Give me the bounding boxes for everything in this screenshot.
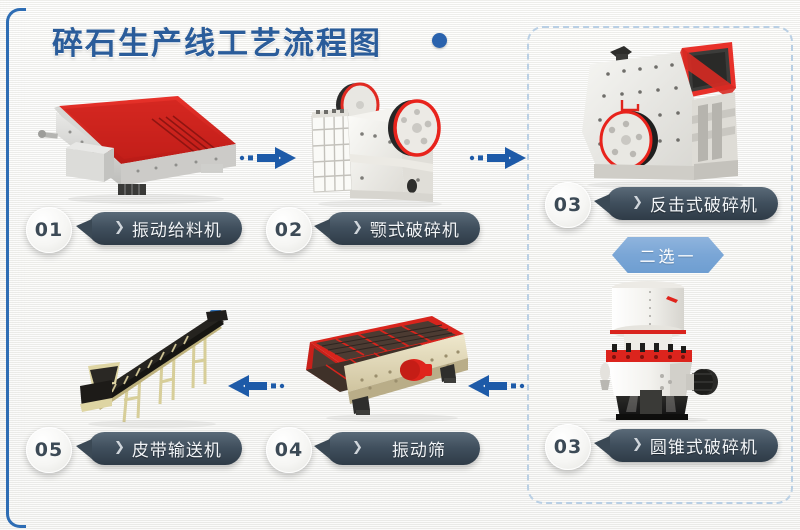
step-label-text: 振动给料机 — [132, 216, 222, 241]
step-label-vibrating-feeder[interactable]: ❯ 振动给料机 — [88, 212, 242, 245]
chevron-right-icon: ❯ — [114, 220, 125, 235]
step-number-03-impact: 03 — [545, 182, 591, 228]
arrow-jaw-to-impact — [468, 145, 528, 171]
page-title: 碎石生产线工艺流程图 — [52, 18, 382, 63]
chevron-right-icon: ❯ — [352, 220, 363, 235]
step-number-02: 02 — [266, 207, 312, 253]
machine-belt-conveyor — [78, 300, 243, 430]
choose-one-badge: 二选一 — [612, 237, 724, 273]
step-label-jaw-crusher[interactable]: ❯ 颚式破碎机 — [326, 212, 480, 245]
step-number-04: 04 — [266, 427, 312, 473]
step-label-text: 皮带输送机 — [132, 436, 222, 461]
hexagon-shape: 二选一 — [612, 237, 724, 273]
chevron-right-icon: ❯ — [632, 437, 643, 452]
choose-one-text: 二选一 — [639, 243, 696, 267]
step-number-05: 05 — [26, 427, 72, 473]
machine-vibrating-feeder — [26, 86, 246, 206]
step-number-01: 01 — [26, 207, 72, 253]
chevron-right-icon: ❯ — [352, 440, 363, 455]
chevron-right-icon: ❯ — [632, 195, 643, 210]
step-label-belt-conveyor[interactable]: ❯ 皮带输送机 — [88, 432, 242, 465]
arrow-feeder-to-jaw — [238, 145, 298, 171]
step-number-03-cone: 03 — [545, 424, 591, 470]
machine-cone-crusher — [578, 272, 758, 422]
step-label-text: 圆锥式破碎机 — [650, 433, 758, 458]
machine-jaw-crusher — [300, 72, 475, 207]
step-label-text: 振动筛 — [392, 436, 446, 461]
step-label-impact-crusher[interactable]: ❯ 反击式破碎机 — [606, 187, 778, 220]
machine-impact-crusher — [560, 40, 785, 190]
chevron-right-icon: ❯ — [114, 440, 125, 455]
arrow-screen-to-conveyor — [226, 373, 286, 399]
step-label-text: 颚式破碎机 — [370, 216, 460, 241]
step-label-text: 反击式破碎机 — [650, 191, 758, 216]
machine-vibrating-screen — [292, 308, 472, 426]
arrow-cone-to-screen — [466, 373, 526, 399]
step-label-vibrating-screen[interactable]: ❯ 振动筛 — [326, 432, 480, 465]
step-label-cone-crusher[interactable]: ❯ 圆锥式破碎机 — [606, 429, 778, 462]
blue-dot-icon — [432, 33, 447, 48]
flowchart-canvas: 碎石生产线工艺流程图 — [0, 0, 800, 530]
